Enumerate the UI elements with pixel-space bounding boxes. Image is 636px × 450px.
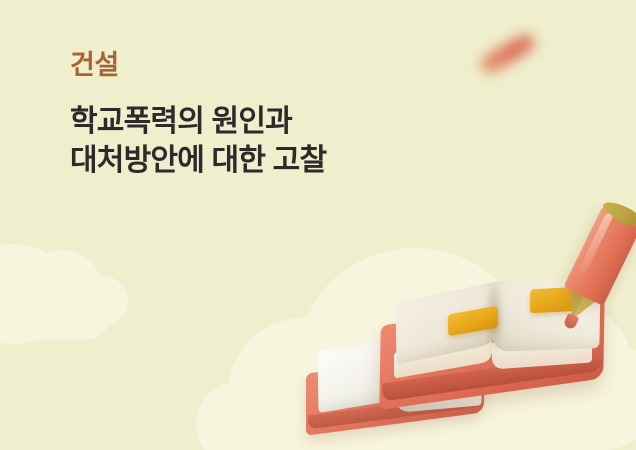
banner-canvas: 건설 학교폭력의 원인과 대처방안에 대한 고찰 — [0, 0, 636, 450]
books-illustration — [0, 0, 636, 450]
